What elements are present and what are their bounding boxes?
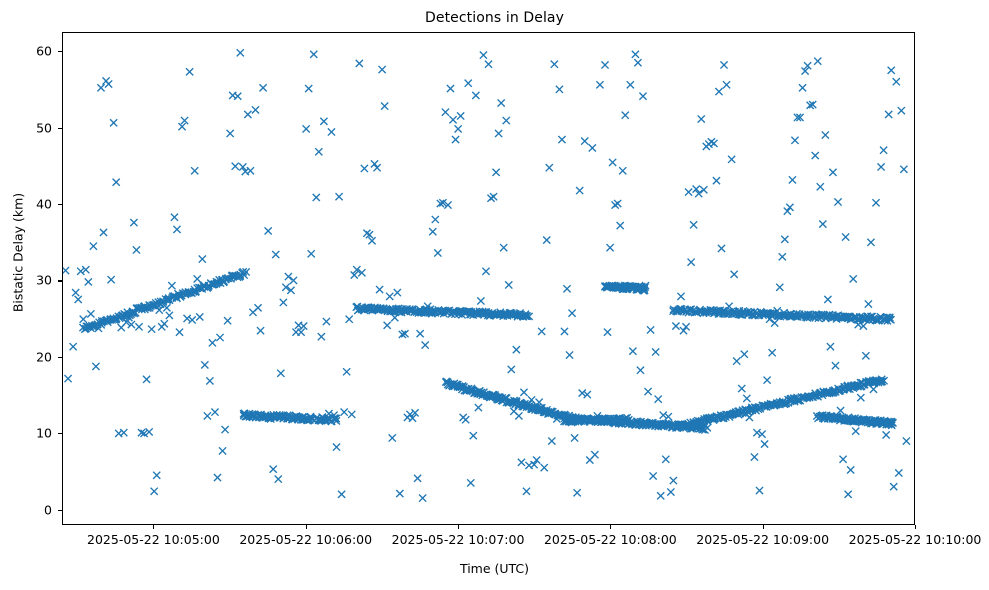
- x-tick-label: 2025-05-22 10:09:00: [696, 532, 829, 547]
- y-axis-tick-labels: 0102030405060: [0, 0, 52, 590]
- x-tick-mark: [763, 525, 764, 529]
- x-tick-mark: [915, 525, 916, 529]
- x-tick-mark: [458, 525, 459, 529]
- scatter-points: [63, 33, 914, 524]
- x-tick-label: 2025-05-22 10:07:00: [392, 532, 525, 547]
- y-tick-label: 60: [36, 44, 52, 59]
- x-tick-mark: [153, 525, 154, 529]
- y-tick-label: 10: [36, 426, 52, 441]
- y-tick-label: 50: [36, 120, 52, 135]
- x-tick-label: 2025-05-22 10:08:00: [544, 532, 677, 547]
- matplotlib-figure: Detections in Delay Bistatic Delay (km) …: [0, 0, 989, 590]
- y-tick-label: 20: [36, 349, 52, 364]
- y-tick-label: 40: [36, 196, 52, 211]
- x-tick-label: 2025-05-22 10:10:00: [849, 532, 982, 547]
- y-tick-label: 0: [44, 502, 52, 517]
- x-tick-mark: [610, 525, 611, 529]
- plot-area: [62, 32, 915, 525]
- x-tick-label: 2025-05-22 10:05:00: [87, 532, 220, 547]
- x-tick-label: 2025-05-22 10:06:00: [239, 532, 372, 547]
- x-tick-mark: [306, 525, 307, 529]
- y-tick-label: 30: [36, 273, 52, 288]
- x-axis-label: Time (UTC): [0, 561, 989, 576]
- chart-title: Detections in Delay: [0, 10, 989, 26]
